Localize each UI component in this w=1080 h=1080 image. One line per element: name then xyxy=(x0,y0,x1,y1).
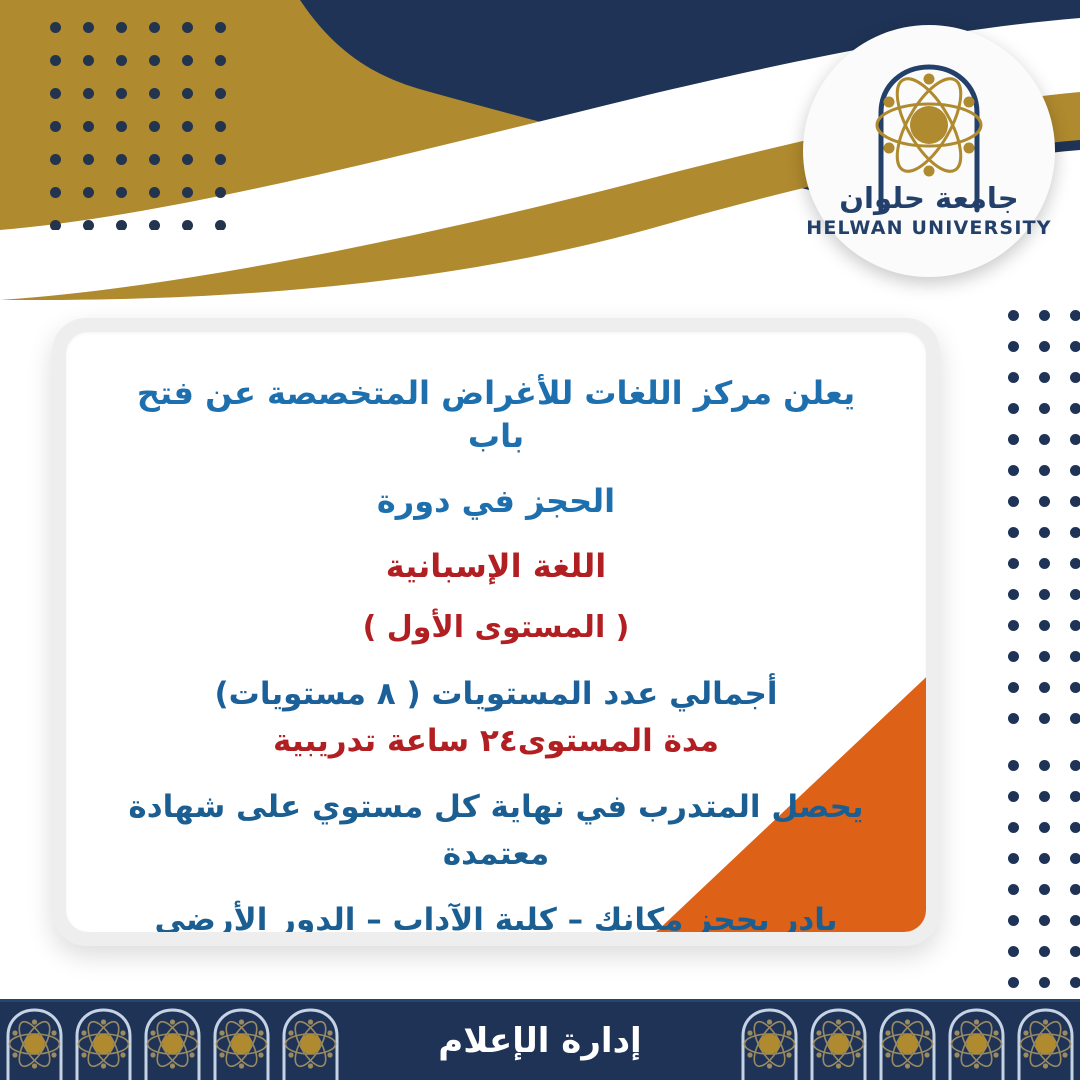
decorative-dot xyxy=(1008,651,1019,662)
decorative-dot xyxy=(1070,620,1080,631)
decorative-dot xyxy=(1039,465,1050,476)
announcement-line-2: الحجز في دورة xyxy=(112,480,880,523)
decorative-dot xyxy=(215,55,226,66)
announcement-total-levels: أجمالي عدد المستويات ( ٨ مستويات) xyxy=(112,674,880,716)
announcement-duration: مدة المستوى٢٤ ساعة تدريبية xyxy=(112,721,880,763)
decorative-dot xyxy=(1039,589,1050,600)
decorative-dot xyxy=(116,121,127,132)
footer-atom-arch-icon xyxy=(276,1002,345,1080)
decorative-dot xyxy=(116,220,127,230)
decorative-dot xyxy=(50,154,61,165)
decorative-dot xyxy=(182,55,193,66)
decorative-dot xyxy=(1039,682,1050,693)
decorative-dot xyxy=(1070,760,1080,771)
decorative-dot xyxy=(116,88,127,99)
dot-grid-right-top xyxy=(988,310,1080,744)
decorative-dot xyxy=(1070,527,1080,538)
decorative-dot xyxy=(1008,341,1019,352)
decorative-dot xyxy=(182,88,193,99)
decorative-dot xyxy=(1008,465,1019,476)
footer-atom-arch-icon xyxy=(207,1002,276,1080)
decorative-dot xyxy=(1008,403,1019,414)
decorative-dot xyxy=(1070,372,1080,383)
decorative-dot xyxy=(1070,558,1080,569)
decorative-dot xyxy=(1039,341,1050,352)
decorative-dot xyxy=(1070,465,1080,476)
announcement-line-1: يعلن مركز اللغات للأغراض المتخصصة عن فتح… xyxy=(112,372,880,458)
decorative-dot xyxy=(1008,853,1019,864)
footer-atom-arch-icon xyxy=(138,1002,207,1080)
decorative-dot xyxy=(1070,853,1080,864)
decorative-dot xyxy=(83,154,94,165)
decorative-dot xyxy=(149,121,160,132)
decorative-dot xyxy=(83,55,94,66)
decorative-dot xyxy=(215,187,226,198)
announcement-text-block: يعلن مركز اللغات للأغراض المتخصصة عن فتح… xyxy=(66,332,926,932)
decorative-dot xyxy=(50,121,61,132)
decorative-dot xyxy=(116,187,127,198)
decorative-dot xyxy=(182,187,193,198)
footer-atom-arch-icon xyxy=(804,1002,873,1080)
decorative-dot xyxy=(1039,791,1050,802)
logo-arabic-name: جامعة حلوان xyxy=(803,181,1055,215)
decorative-dot xyxy=(215,121,226,132)
decorative-dot xyxy=(1070,946,1080,957)
footer-bar: إدارة الإعلام xyxy=(0,999,1080,1080)
decorative-dot xyxy=(215,220,226,230)
decorative-dot xyxy=(1008,558,1019,569)
decorative-dot xyxy=(1039,496,1050,507)
footer-atom-arch-icon xyxy=(873,1002,942,1080)
decorative-dot xyxy=(50,220,61,230)
decorative-dot xyxy=(1070,822,1080,833)
decorative-dot xyxy=(83,22,94,33)
footer-pattern-right xyxy=(0,1002,345,1080)
footer-atom-arch-icon xyxy=(69,1002,138,1080)
decorative-dot xyxy=(149,187,160,198)
decorative-dot xyxy=(1039,372,1050,383)
decorative-dot xyxy=(1039,310,1050,321)
decorative-dot xyxy=(1039,651,1050,662)
decorative-dot xyxy=(1039,884,1050,895)
decorative-dot xyxy=(149,22,160,33)
decorative-dot xyxy=(1008,822,1019,833)
decorative-dot xyxy=(1039,946,1050,957)
decorative-dot xyxy=(1008,682,1019,693)
decorative-dot xyxy=(1070,651,1080,662)
decorative-dot xyxy=(1008,884,1019,895)
decorative-dot xyxy=(215,22,226,33)
decorative-dot xyxy=(1008,620,1019,631)
decorative-dot xyxy=(1008,713,1019,724)
decorative-dot xyxy=(1070,791,1080,802)
decorative-dot xyxy=(50,55,61,66)
decorative-dot xyxy=(83,121,94,132)
decorative-dot xyxy=(182,22,193,33)
announcement-level: ( المستوى الأول ) xyxy=(112,608,880,648)
dot-grid-top-left xyxy=(28,22,226,230)
decorative-dot xyxy=(1070,434,1080,445)
footer-atom-arch-icon xyxy=(942,1002,1011,1080)
decorative-dot xyxy=(1008,946,1019,957)
footer-atom-arch-icon xyxy=(0,1002,69,1080)
decorative-dot xyxy=(1008,760,1019,771)
decorative-dot xyxy=(50,22,61,33)
decorative-dot xyxy=(1039,558,1050,569)
decorative-dot xyxy=(1070,713,1080,724)
decorative-dot xyxy=(182,121,193,132)
logo-latin-name: HELWAN UNIVERSITY xyxy=(803,217,1055,239)
decorative-dot xyxy=(1008,977,1019,988)
decorative-dot xyxy=(1039,527,1050,538)
decorative-dot xyxy=(1008,791,1019,802)
decorative-dot xyxy=(1008,310,1019,321)
decorative-dot xyxy=(182,220,193,230)
decorative-dot xyxy=(1039,760,1050,771)
decorative-dot xyxy=(1070,589,1080,600)
decorative-dot xyxy=(1070,977,1080,988)
decorative-dot xyxy=(1008,496,1019,507)
decorative-dot xyxy=(1070,341,1080,352)
footer-atom-arch-icon xyxy=(1011,1002,1080,1080)
decorative-dot xyxy=(182,154,193,165)
decorative-dot xyxy=(50,187,61,198)
announcement-course-name: اللغة الإسبانية xyxy=(112,545,880,588)
footer-atom-arch-icon xyxy=(735,1002,804,1080)
decorative-dot xyxy=(1039,713,1050,724)
poster-root: جامعة حلوان HELWAN UNIVERSITY يعلن مركز … xyxy=(0,0,1080,1080)
decorative-dot xyxy=(1039,403,1050,414)
announcement-card: يعلن مركز اللغات للأغراض المتخصصة عن فتح… xyxy=(52,318,940,946)
decorative-dot xyxy=(149,55,160,66)
decorative-dot xyxy=(83,187,94,198)
footer-title: إدارة الإعلام xyxy=(345,1021,735,1061)
announcement-certificate-2: معتمدة xyxy=(112,834,880,876)
decorative-dot xyxy=(1008,434,1019,445)
decorative-dot xyxy=(1008,915,1019,926)
atom-arch-icon xyxy=(803,25,1055,277)
announcement-certificate-1: يحصل المتدرب في نهاية كل مستوي على شهادة xyxy=(112,787,880,829)
decorative-dot xyxy=(1039,915,1050,926)
decorative-dot xyxy=(1039,620,1050,631)
decorative-dot xyxy=(1039,822,1050,833)
decorative-dot xyxy=(1070,403,1080,414)
decorative-dot xyxy=(149,220,160,230)
announcement-location: بادر بحجز مكانك – كلية الآداب – الدور ال… xyxy=(112,900,880,932)
decorative-dot xyxy=(1070,496,1080,507)
decorative-dot xyxy=(1039,977,1050,988)
decorative-dot xyxy=(116,22,127,33)
decorative-dot xyxy=(149,154,160,165)
decorative-dot xyxy=(50,88,61,99)
decorative-dot xyxy=(1070,884,1080,895)
decorative-dot xyxy=(215,154,226,165)
decorative-dot xyxy=(1008,372,1019,383)
top-left-gold-block xyxy=(0,0,360,230)
decorative-dot xyxy=(1039,853,1050,864)
decorative-dot xyxy=(116,154,127,165)
decorative-dot xyxy=(1008,527,1019,538)
decorative-dot xyxy=(83,220,94,230)
announcement-card-inner: يعلن مركز اللغات للأغراض المتخصصة عن فتح… xyxy=(66,332,926,932)
decorative-dot xyxy=(1070,682,1080,693)
university-logo-badge: جامعة حلوان HELWAN UNIVERSITY xyxy=(803,25,1055,277)
decorative-dot xyxy=(1008,589,1019,600)
decorative-dot xyxy=(1039,434,1050,445)
decorative-dot xyxy=(116,55,127,66)
decorative-dot xyxy=(215,88,226,99)
decorative-dot xyxy=(1070,915,1080,926)
footer-pattern-left xyxy=(735,1002,1080,1080)
decorative-dot xyxy=(83,88,94,99)
decorative-dot xyxy=(149,88,160,99)
decorative-dot xyxy=(1070,310,1080,321)
